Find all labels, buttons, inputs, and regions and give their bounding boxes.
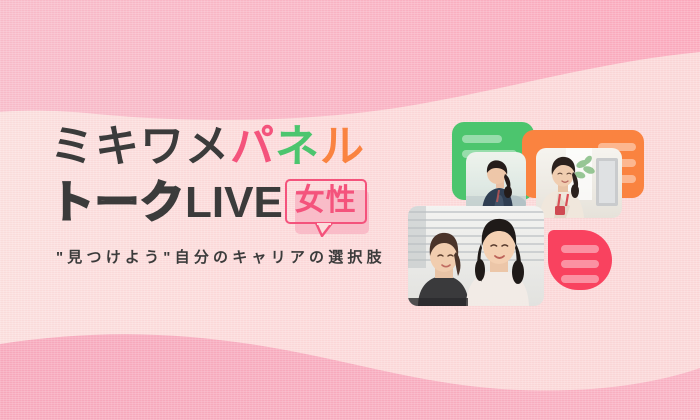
photo-woman-side-profile — [466, 152, 526, 214]
title-line-1: ミキワメパネル — [50, 122, 367, 172]
title-segment-green: ネ — [275, 122, 320, 172]
line — [561, 245, 599, 253]
title-line-2-text: トークLIVE — [50, 178, 283, 228]
headline-block: ミキワメパネル トークLIVE 女性 — [50, 122, 367, 228]
title-segment-dark: ミキワメ — [50, 122, 230, 172]
photo-woman-at-desk — [536, 148, 622, 218]
pink-bubble-lines — [561, 245, 599, 283]
line — [561, 260, 599, 268]
event-banner: ミキワメパネル トークLIVE 女性 "見つけよう"自分のキャリアの選択肢 — [0, 0, 700, 420]
title-outline-text: トーク — [50, 178, 185, 227]
subtitle: "見つけよう"自分のキャリアの選択肢 — [56, 248, 386, 268]
title-live-text: LIVE — [185, 178, 283, 227]
pink-bubble-card — [548, 230, 612, 290]
title-segment-orange: ル — [320, 122, 365, 172]
title-segment-pink: パ — [230, 122, 275, 172]
badge-label: 女性 — [285, 179, 367, 224]
audience-badge: 女性 — [285, 179, 367, 224]
line — [462, 135, 502, 143]
photo-two-women — [408, 206, 544, 306]
photo-collage — [408, 108, 688, 318]
badge-tail-icon — [315, 223, 333, 237]
line — [561, 275, 599, 283]
title-line-2: トークLIVE 女性 — [50, 178, 367, 228]
